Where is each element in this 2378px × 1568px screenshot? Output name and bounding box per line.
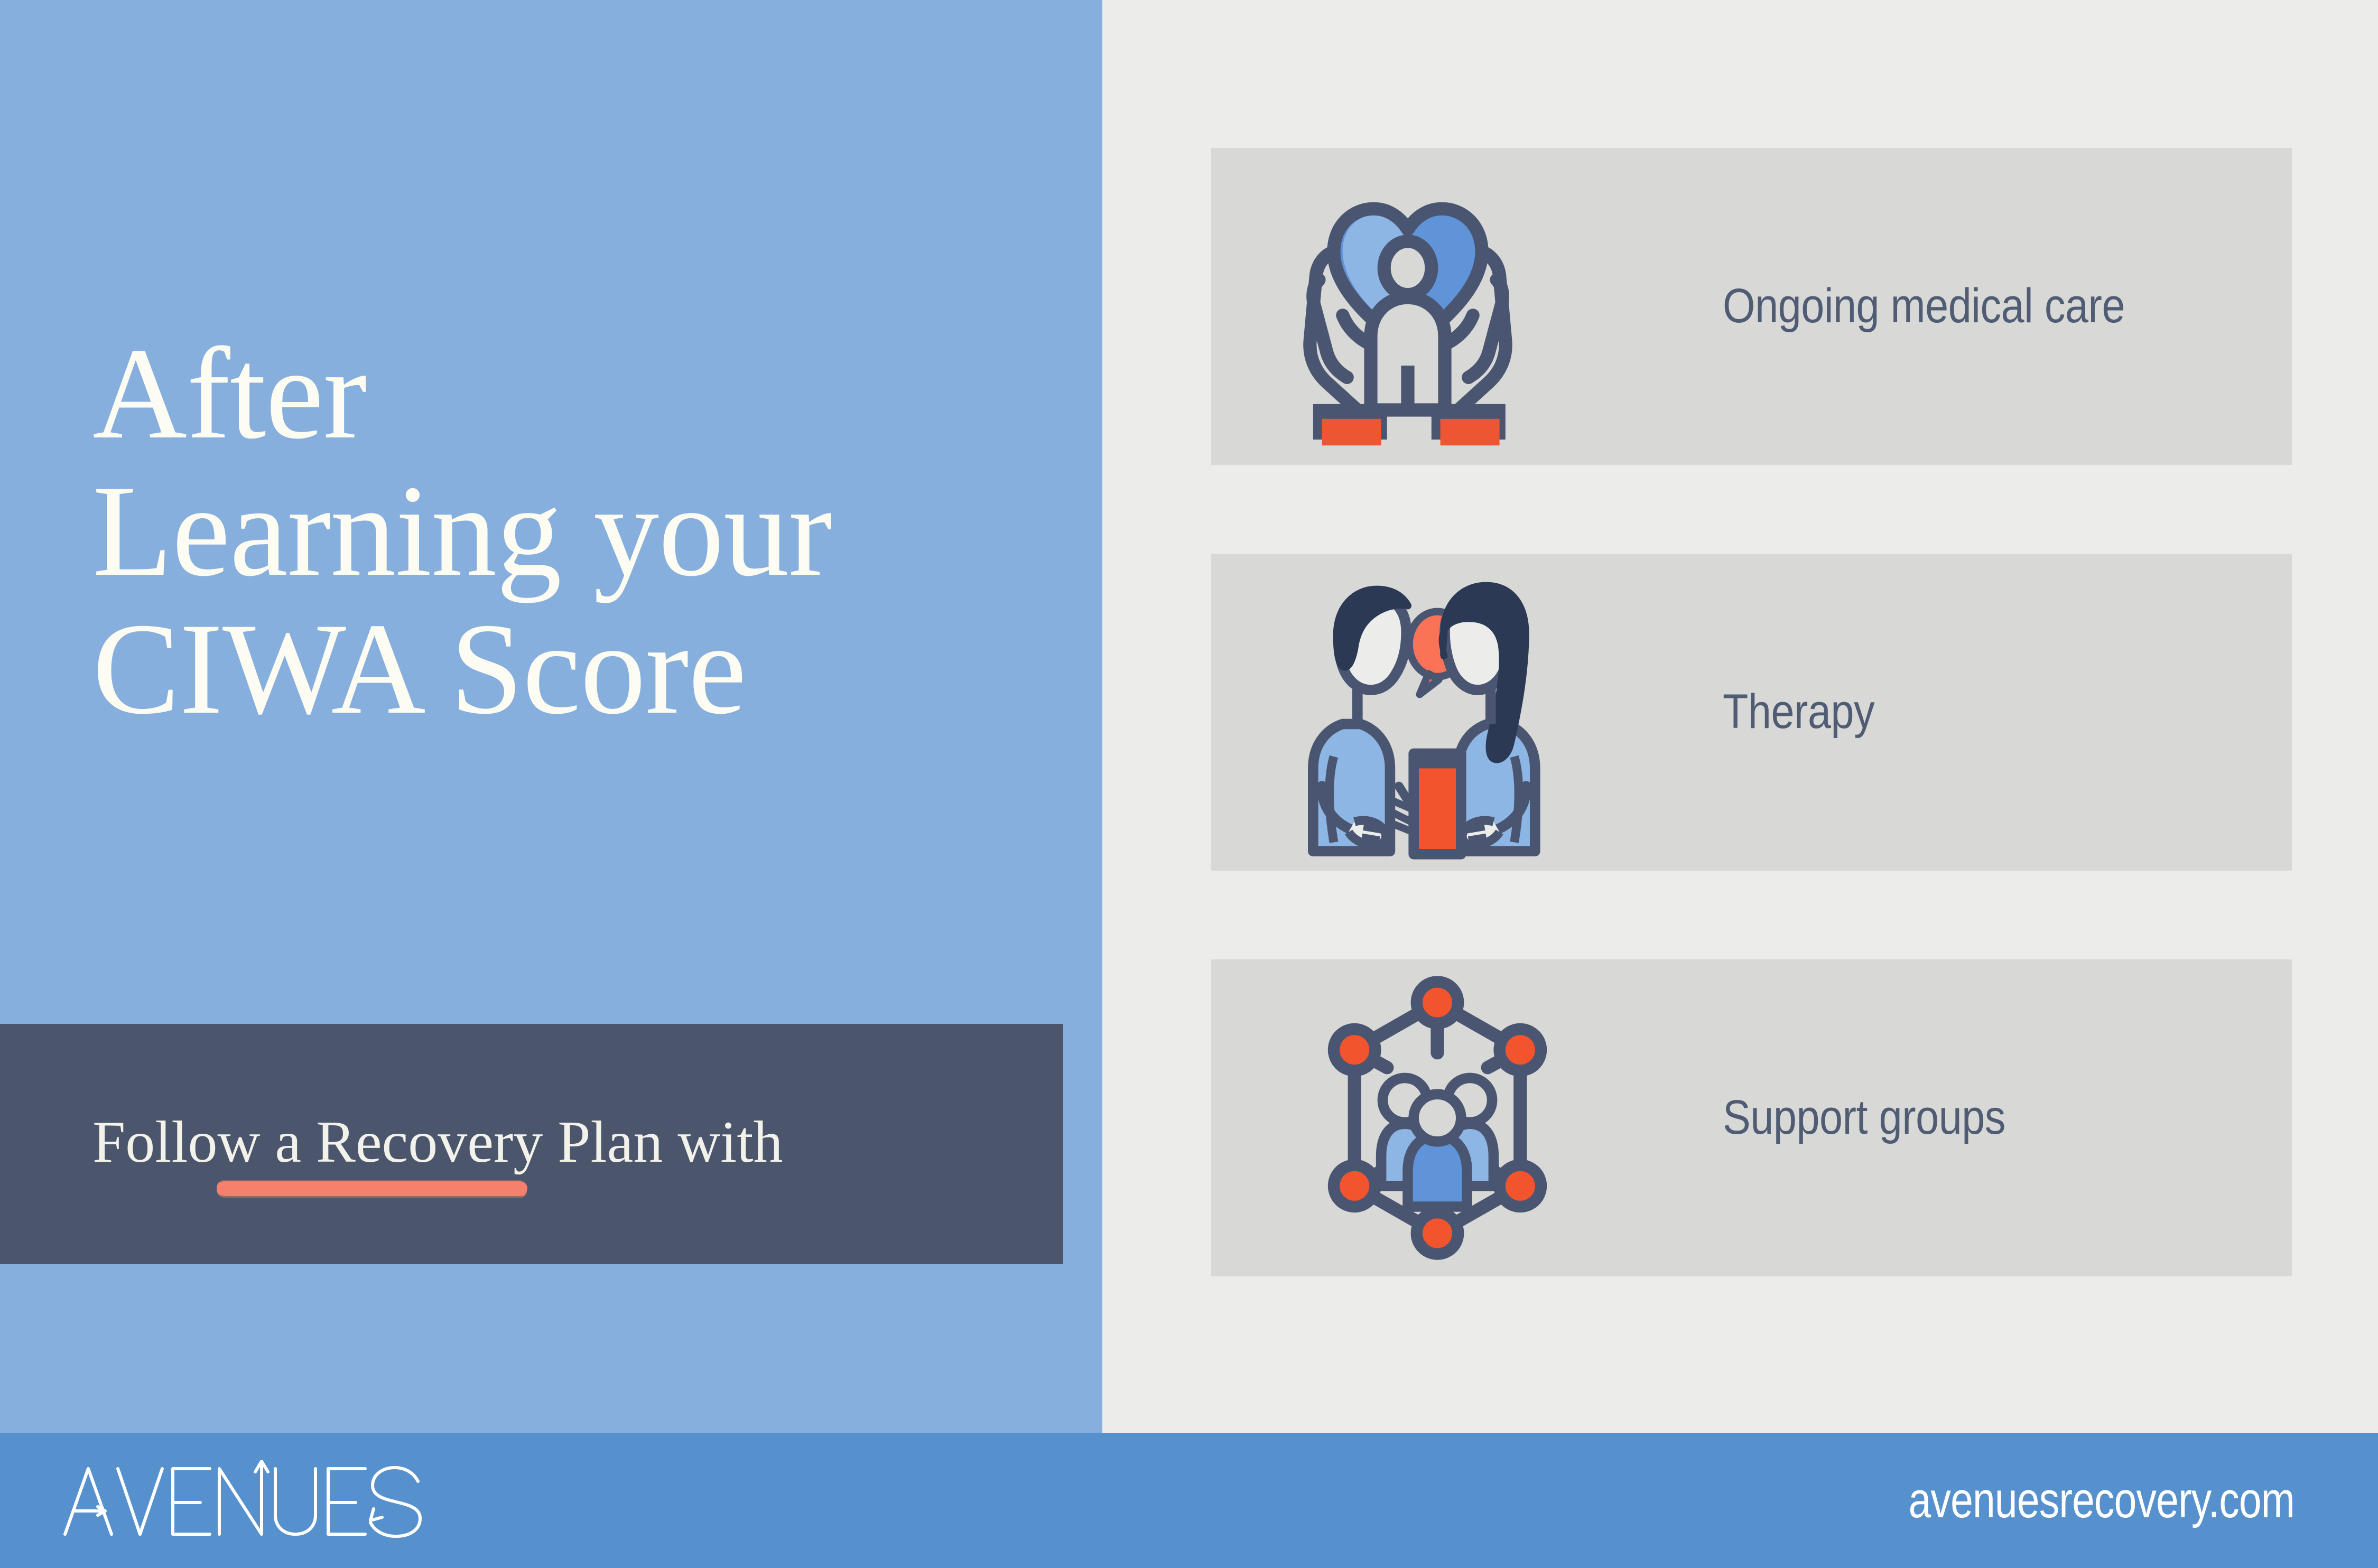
headline-line-2: Learning your	[92, 462, 1060, 600]
feature-card-list: Ongoing medical care	[1211, 148, 2292, 1276]
network-group-icon	[1289, 970, 1585, 1266]
feature-card-support-groups[interactable]: Support groups	[1211, 959, 2292, 1276]
hands-holding-heart-icon	[1289, 158, 1585, 454]
footer-website-url[interactable]: avenuesrecovery.com	[1909, 1433, 2295, 1568]
brush-underline-accent	[217, 1181, 527, 1196]
feature-card-ongoing-medical-care[interactable]: Ongoing medical care	[1211, 148, 2292, 465]
feature-card-therapy[interactable]: Therapy	[1211, 554, 2292, 871]
avenues-logo[interactable]	[61, 1460, 478, 1541]
subtitle-text: Follow a Recovery Plan with	[92, 1113, 1023, 1172]
two-people-talking-icon	[1289, 564, 1585, 860]
feature-card-label: Therapy	[1723, 681, 1874, 743]
infographic-canvas: After Learning your CIWA Score Follow a …	[0, 0, 2378, 1568]
feature-card-label: Ongoing medical care	[1723, 275, 2125, 338]
feature-card-label: Support groups	[1723, 1087, 2005, 1149]
headline-line-1: After	[92, 325, 1060, 462]
subtitle-banner: Follow a Recovery Plan with	[0, 1024, 1063, 1264]
page-title: After Learning your CIWA Score	[92, 325, 1060, 738]
headline-line-3: CIWA Score	[92, 600, 1060, 738]
subtitle-wrap: Follow a Recovery Plan with	[92, 1113, 1023, 1172]
footer-bar: avenuesrecovery.com	[0, 1433, 2378, 1568]
